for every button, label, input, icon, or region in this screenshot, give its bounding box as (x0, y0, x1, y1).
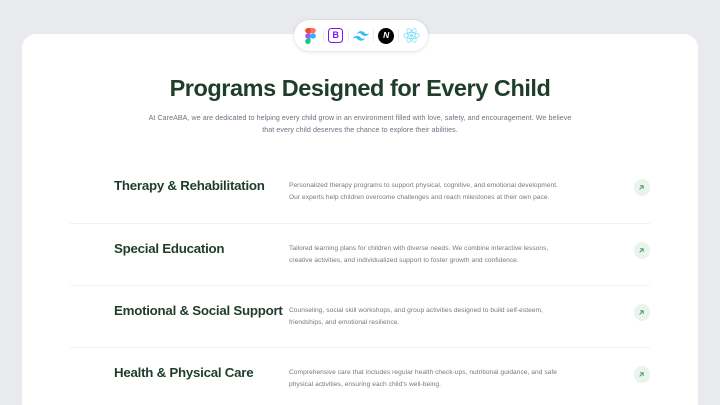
program-description: Comprehensive care that includes regular… (289, 365, 626, 390)
page-title: Programs Designed for Every Child (142, 74, 578, 102)
program-list: Therapy & Rehabilitation Personalized th… (22, 161, 698, 405)
program-title: Health & Physical Care (70, 365, 289, 382)
page-header: Programs Designed for Every Child At Car… (22, 74, 698, 136)
program-description-line-1: Personalized therapy programs to support… (289, 180, 608, 192)
toolbar-divider (323, 29, 324, 42)
program-description: Counseling, social skill workshops, and … (289, 303, 626, 328)
program-description-line-1: Tailored learning plans for children wit… (289, 243, 608, 255)
nextjs-letter: N (378, 28, 394, 44)
program-row-special-education[interactable]: Special Education Tailored learning plan… (70, 223, 650, 285)
arrow-up-right-icon[interactable] (634, 304, 651, 321)
program-description: Personalized therapy programs to support… (289, 178, 626, 203)
bootstrap-icon[interactable]: B (326, 26, 345, 45)
program-action[interactable] (626, 178, 650, 196)
page-subtitle: At CareABA, we are dedicated to helping … (142, 113, 578, 136)
react-icon[interactable] (402, 26, 421, 45)
toolbar-divider (398, 29, 399, 42)
tailwind-icon[interactable] (352, 26, 371, 45)
arrow-up-right-icon[interactable] (634, 179, 651, 196)
program-action[interactable] (626, 303, 650, 321)
toolbar-divider (348, 29, 349, 42)
program-description-line-1: Comprehensive care that includes regular… (289, 367, 608, 379)
program-title: Special Education (70, 241, 289, 258)
program-row-health-physical-care[interactable]: Health & Physical Care Comprehensive car… (70, 347, 650, 405)
page-subtitle-line-1: At CareABA, we are dedicated to helping … (149, 114, 480, 122)
program-action[interactable] (626, 365, 650, 383)
program-description-line-2: physical activities, ensuring each child… (289, 379, 608, 391)
program-title: Emotional & Social Support (70, 303, 289, 320)
tech-stack-toolbar: B N (294, 20, 428, 51)
program-title: Therapy & Rehabilitation (70, 178, 289, 195)
toolbar-divider (373, 29, 374, 42)
figma-icon[interactable] (301, 26, 320, 45)
arrow-up-right-icon[interactable] (634, 366, 651, 383)
program-description-line-2: Our experts help children overcome chall… (289, 192, 608, 204)
bootstrap-letter: B (328, 28, 343, 43)
program-row-emotional-social-support[interactable]: Emotional & Social Support Counseling, s… (70, 285, 650, 347)
nextjs-icon[interactable]: N (377, 26, 396, 45)
program-description-line-2: creative activities, and individualized … (289, 255, 608, 267)
program-action[interactable] (626, 241, 650, 259)
page-card: Programs Designed for Every Child At Car… (22, 34, 698, 405)
program-description: Tailored learning plans for children wit… (289, 241, 626, 266)
program-description-line-2: friendships, and emotional resilience. (289, 317, 608, 329)
program-row-therapy-rehabilitation[interactable]: Therapy & Rehabilitation Personalized th… (70, 161, 650, 223)
program-description-line-1: Counseling, social skill workshops, and … (289, 305, 608, 317)
arrow-up-right-icon[interactable] (634, 242, 651, 259)
